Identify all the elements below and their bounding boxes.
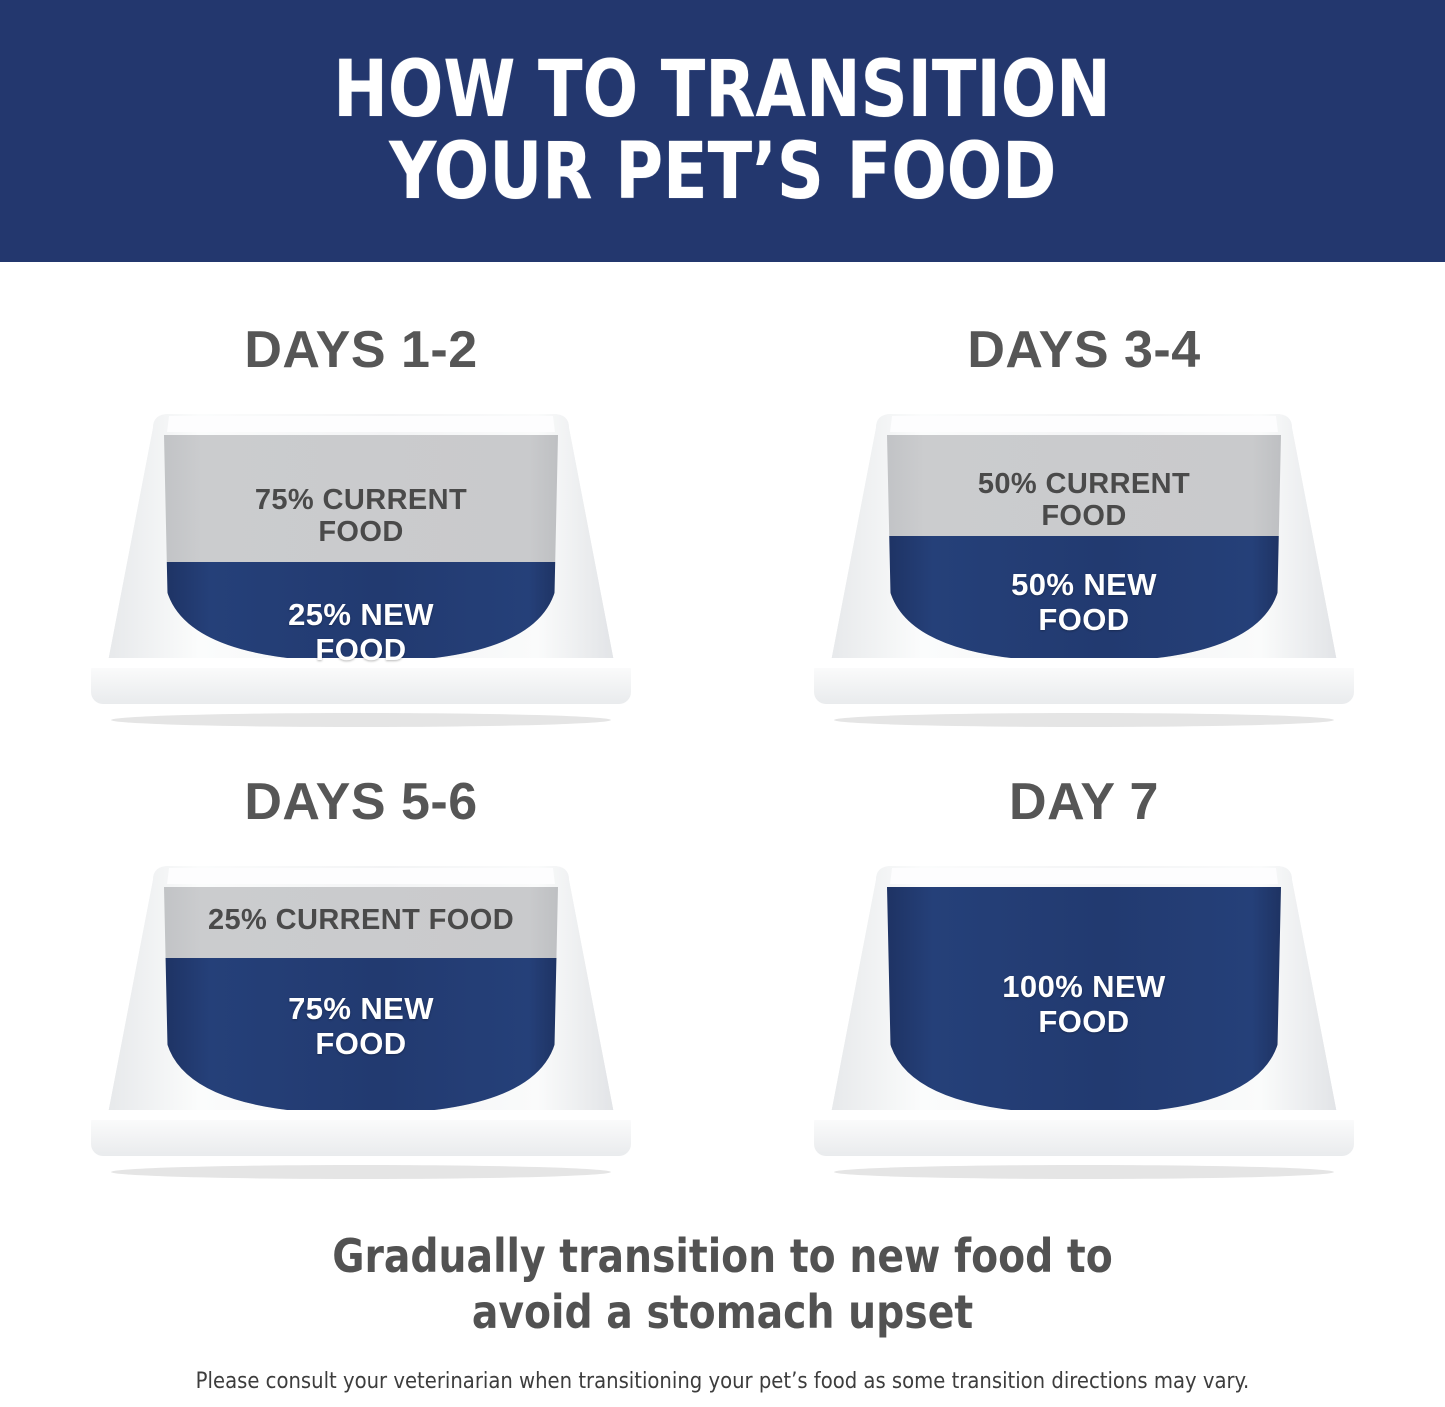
step-day-label: DAY 7 [723,772,1445,832]
transition-step-card: DAY 7 [723,714,1445,1194]
food-bowl-graphic: 50% CURRENT FOOD 50% NEW FOOD [784,390,1384,730]
transition-step-card: DAYS 5-6 [0,714,722,1194]
tagline-line-1: Gradually transition to new food to [36,1228,1409,1284]
food-bowl-graphic: 25% CURRENT FOOD 75% NEW FOOD [61,842,661,1182]
infographic-page: HOW TO TRANSITION YOUR PET’S FOOD DAYS 1… [0,0,1445,1407]
tagline-line-2: avoid a stomach upset [36,1284,1409,1340]
step-day-label: DAYS 5-6 [0,772,722,832]
transition-step-card: DAYS 1-2 [0,262,722,742]
transition-step-card: DAYS 3-4 [723,262,1445,742]
step-day-label: DAYS 1-2 [0,320,722,380]
step-day-label: DAYS 3-4 [723,320,1445,380]
disclaimer-text: Please consult your veterinarian when tr… [22,1368,1424,1394]
bowl-illustration [61,842,661,1182]
footer-tagline: Gradually transition to new food to avoi… [0,1228,1445,1340]
page-title-line-1: HOW TO TRANSITION [334,52,1112,128]
food-bowl-graphic: 75% CURRENT FOOD 25% NEW FOOD [61,390,661,730]
page-title-line-2: YOUR PET’S FOOD [389,134,1056,210]
bowl-illustration [61,390,661,730]
bowl-illustration [784,390,1384,730]
food-bowl-graphic: 100% NEW FOOD [784,842,1384,1182]
transition-steps-grid: DAYS 1-2 [0,262,1445,1222]
header-banner: HOW TO TRANSITION YOUR PET’S FOOD [0,0,1445,262]
bowl-illustration [784,842,1384,1182]
